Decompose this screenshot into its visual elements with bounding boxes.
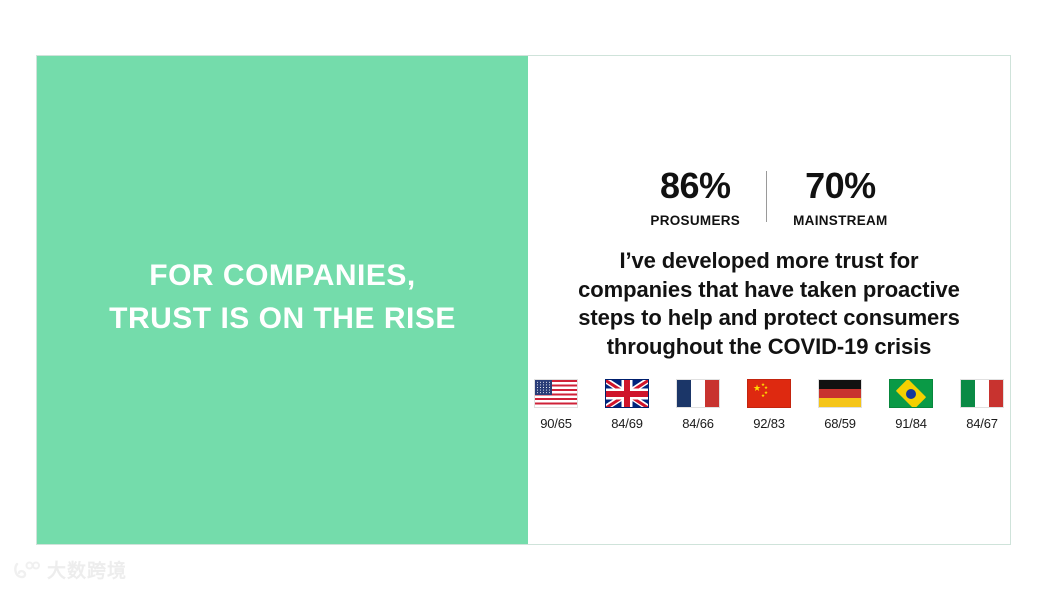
statement-line-3: steps to help and protect consumers — [578, 304, 960, 333]
stats-panel: 86% PROSUMERS 70% MAINSTREAM I’ve develo… — [528, 56, 1010, 544]
country-score-uk: 84/69 — [611, 416, 643, 431]
country-score-brazil: 91/84 — [895, 416, 927, 431]
flag-germany-icon — [818, 379, 862, 408]
headline-line-1: FOR COMPANIES, — [109, 255, 456, 298]
flag-us-icon — [534, 379, 578, 408]
country-cell-germany: 68/59 — [815, 379, 865, 431]
infographic-card: FOR COMPANIES, TRUST IS ON THE RISE 86% … — [36, 55, 1011, 545]
country-score-italy: 84/67 — [966, 416, 998, 431]
stat-mainstream-value: 70% — [805, 168, 876, 204]
country-cell-france: 84/66 — [673, 379, 723, 431]
country-score-germany: 68/59 — [824, 416, 856, 431]
statement-line-1: I’ve developed more trust for — [578, 247, 960, 276]
statement-line-4: throughout the COVID-19 crisis — [578, 333, 960, 362]
country-cell-brazil: 91/84 — [886, 379, 936, 431]
country-cell-us: 90/65 — [531, 379, 581, 431]
flag-france-icon — [676, 379, 720, 408]
statement-line-2: companies that have taken proactive — [578, 276, 960, 305]
stat-mainstream-label: MAINSTREAM — [793, 213, 888, 228]
watermark-logo-icon — [14, 560, 40, 580]
headline-panel: FOR COMPANIES, TRUST IS ON THE RISE — [37, 56, 528, 544]
country-score-us: 90/65 — [540, 416, 572, 431]
country-cell-italy: 84/67 — [957, 379, 1007, 431]
flag-italy-icon — [960, 379, 1004, 408]
stat-group: 86% PROSUMERS 70% MAINSTREAM — [624, 168, 913, 228]
watermark-text: 大数跨境 — [47, 556, 127, 583]
country-score-row: 90/65 84/69 84/66 ★ — [531, 379, 1007, 431]
stat-prosumers-label: PROSUMERS — [650, 213, 740, 228]
country-cell-china: ★ ★ ★ ★ ★ 92/83 — [744, 379, 794, 431]
country-score-china: 92/83 — [753, 416, 785, 431]
page-title: FOR COMPANIES, TRUST IS ON THE RISE — [109, 255, 456, 344]
stat-mainstream: 70% MAINSTREAM — [767, 168, 914, 228]
stat-prosumers-value: 86% — [660, 168, 731, 204]
survey-statement: I’ve developed more trust for companies … — [578, 247, 960, 361]
watermark: 大数跨境 — [14, 556, 127, 583]
country-cell-uk: 84/69 — [602, 379, 652, 431]
flag-uk-icon — [605, 379, 649, 408]
flag-china-icon: ★ ★ ★ ★ ★ — [747, 379, 791, 408]
country-score-france: 84/66 — [682, 416, 714, 431]
headline-line-2: TRUST IS ON THE RISE — [109, 298, 456, 341]
flag-brazil-icon — [889, 379, 933, 408]
stat-prosumers: 86% PROSUMERS — [624, 168, 766, 228]
